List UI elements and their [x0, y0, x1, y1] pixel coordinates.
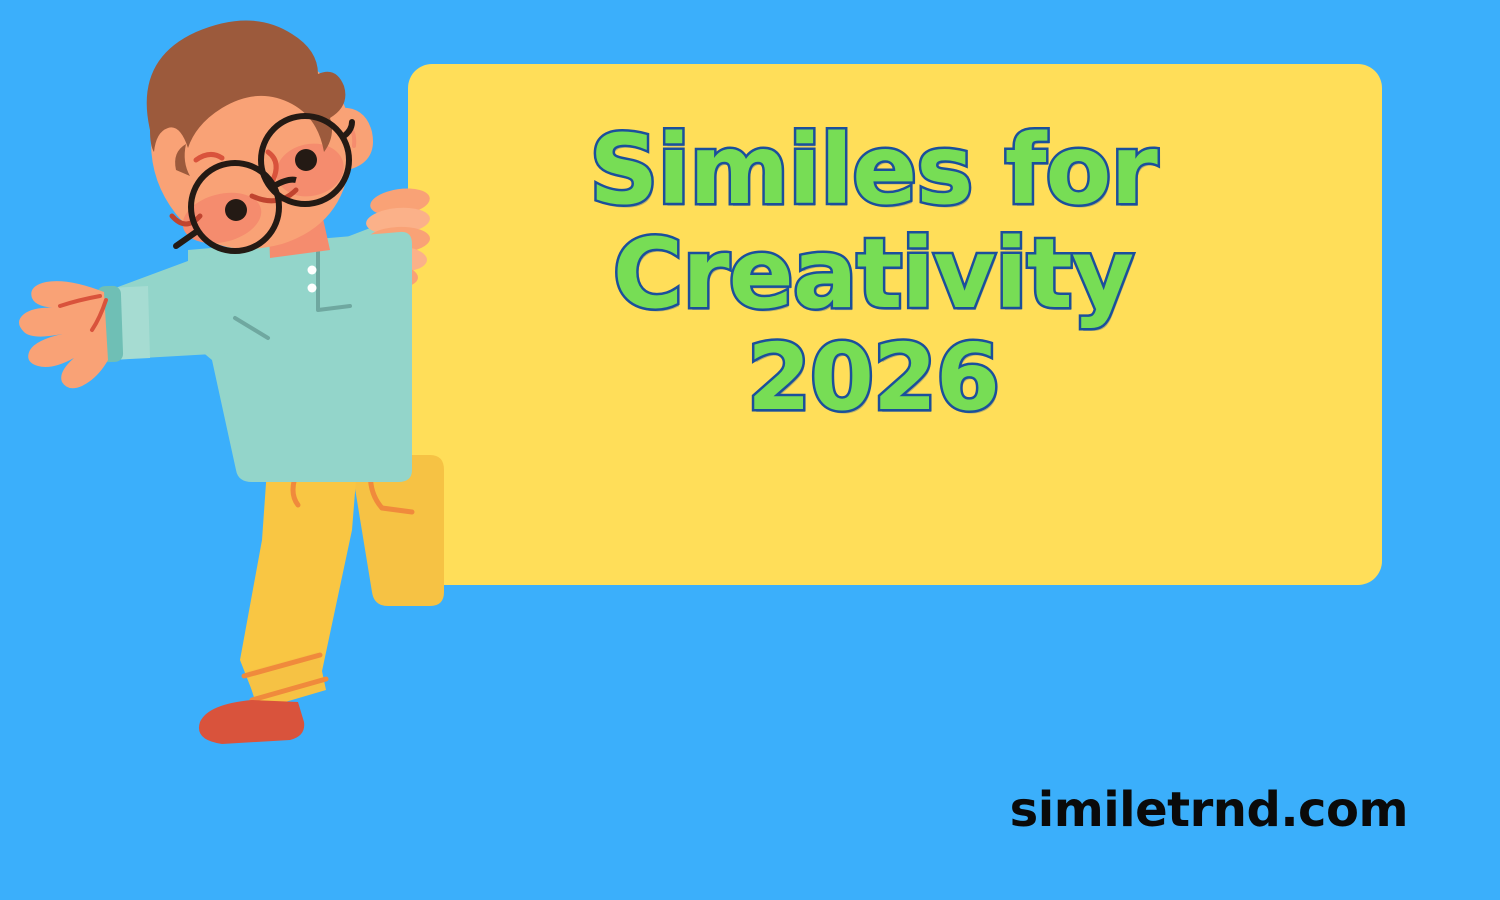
site-watermark: similetrnd.com [1010, 782, 1408, 838]
shoe [199, 700, 304, 744]
banner-card [408, 64, 1382, 585]
open-hand [19, 281, 108, 388]
poster-canvas: Similes for Creativity 2026 similetrnd.c… [0, 0, 1500, 900]
character-illustration [0, 0, 470, 760]
